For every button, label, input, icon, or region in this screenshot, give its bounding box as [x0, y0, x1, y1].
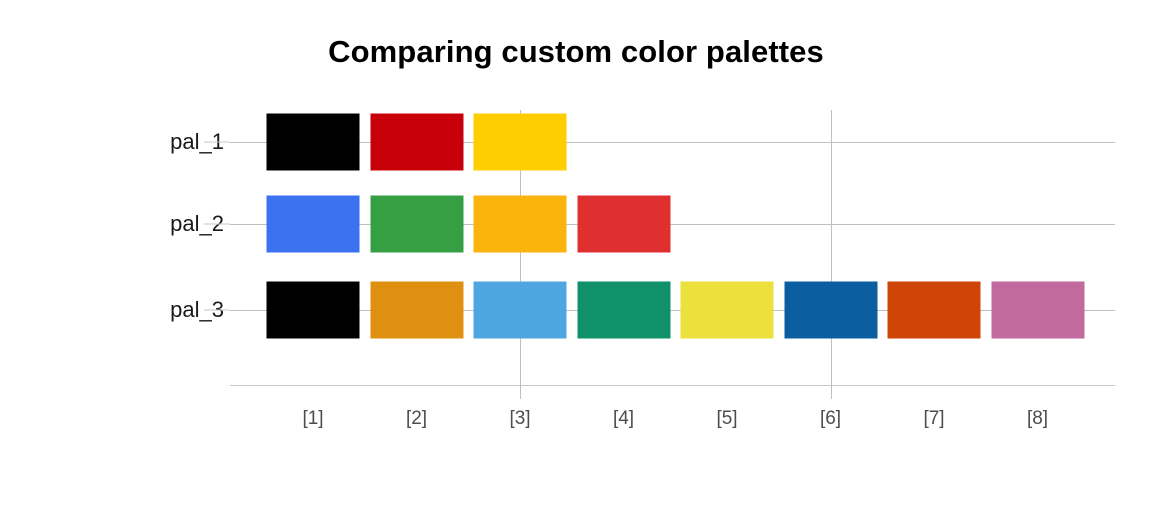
x-axis-line	[230, 385, 1115, 386]
y-axis-tick	[204, 142, 230, 143]
y-axis-tick	[204, 310, 230, 311]
gridline-horizontal	[230, 142, 1115, 143]
x-axis-label-7: [7]	[923, 408, 944, 430]
chart-title: Comparing custom color palettes	[0, 34, 1152, 70]
color-swatch-pal_2-4	[577, 196, 670, 253]
gridline-vertical	[831, 110, 832, 385]
color-swatch-pal_1-3	[474, 114, 567, 171]
color-swatch-pal_2-2	[370, 196, 463, 253]
color-swatch-pal_2-3	[474, 196, 567, 253]
gridline-horizontal	[230, 224, 1115, 225]
x-axis-tick	[831, 385, 832, 399]
color-swatch-pal_3-2	[370, 282, 463, 339]
plot-panel	[230, 110, 1115, 385]
x-axis-tick	[520, 385, 521, 399]
color-swatch-pal_3-8	[991, 282, 1084, 339]
y-axis-tick	[204, 224, 230, 225]
color-swatch-pal_3-3	[474, 282, 567, 339]
x-axis-label-3: [3]	[509, 408, 530, 430]
color-swatch-pal_1-1	[267, 114, 360, 171]
x-axis-label-8: [8]	[1027, 408, 1048, 430]
color-swatch-pal_3-5	[681, 282, 774, 339]
color-swatch-pal_3-1	[267, 282, 360, 339]
chart-canvas: Comparing custom color palettes pal_1pal…	[0, 0, 1152, 518]
color-swatch-pal_3-6	[784, 282, 877, 339]
x-axis-label-5: [5]	[716, 408, 737, 430]
x-axis-label-4: [4]	[613, 408, 634, 430]
color-swatch-pal_3-7	[888, 282, 981, 339]
x-axis-label-2: [2]	[406, 408, 427, 430]
gridline-horizontal	[230, 310, 1115, 311]
color-swatch-pal_1-2	[370, 114, 463, 171]
x-axis-label-1: [1]	[302, 408, 323, 430]
color-swatch-pal_2-1	[267, 196, 360, 253]
color-swatch-pal_3-4	[577, 282, 670, 339]
x-axis-label-6: [6]	[820, 408, 841, 430]
